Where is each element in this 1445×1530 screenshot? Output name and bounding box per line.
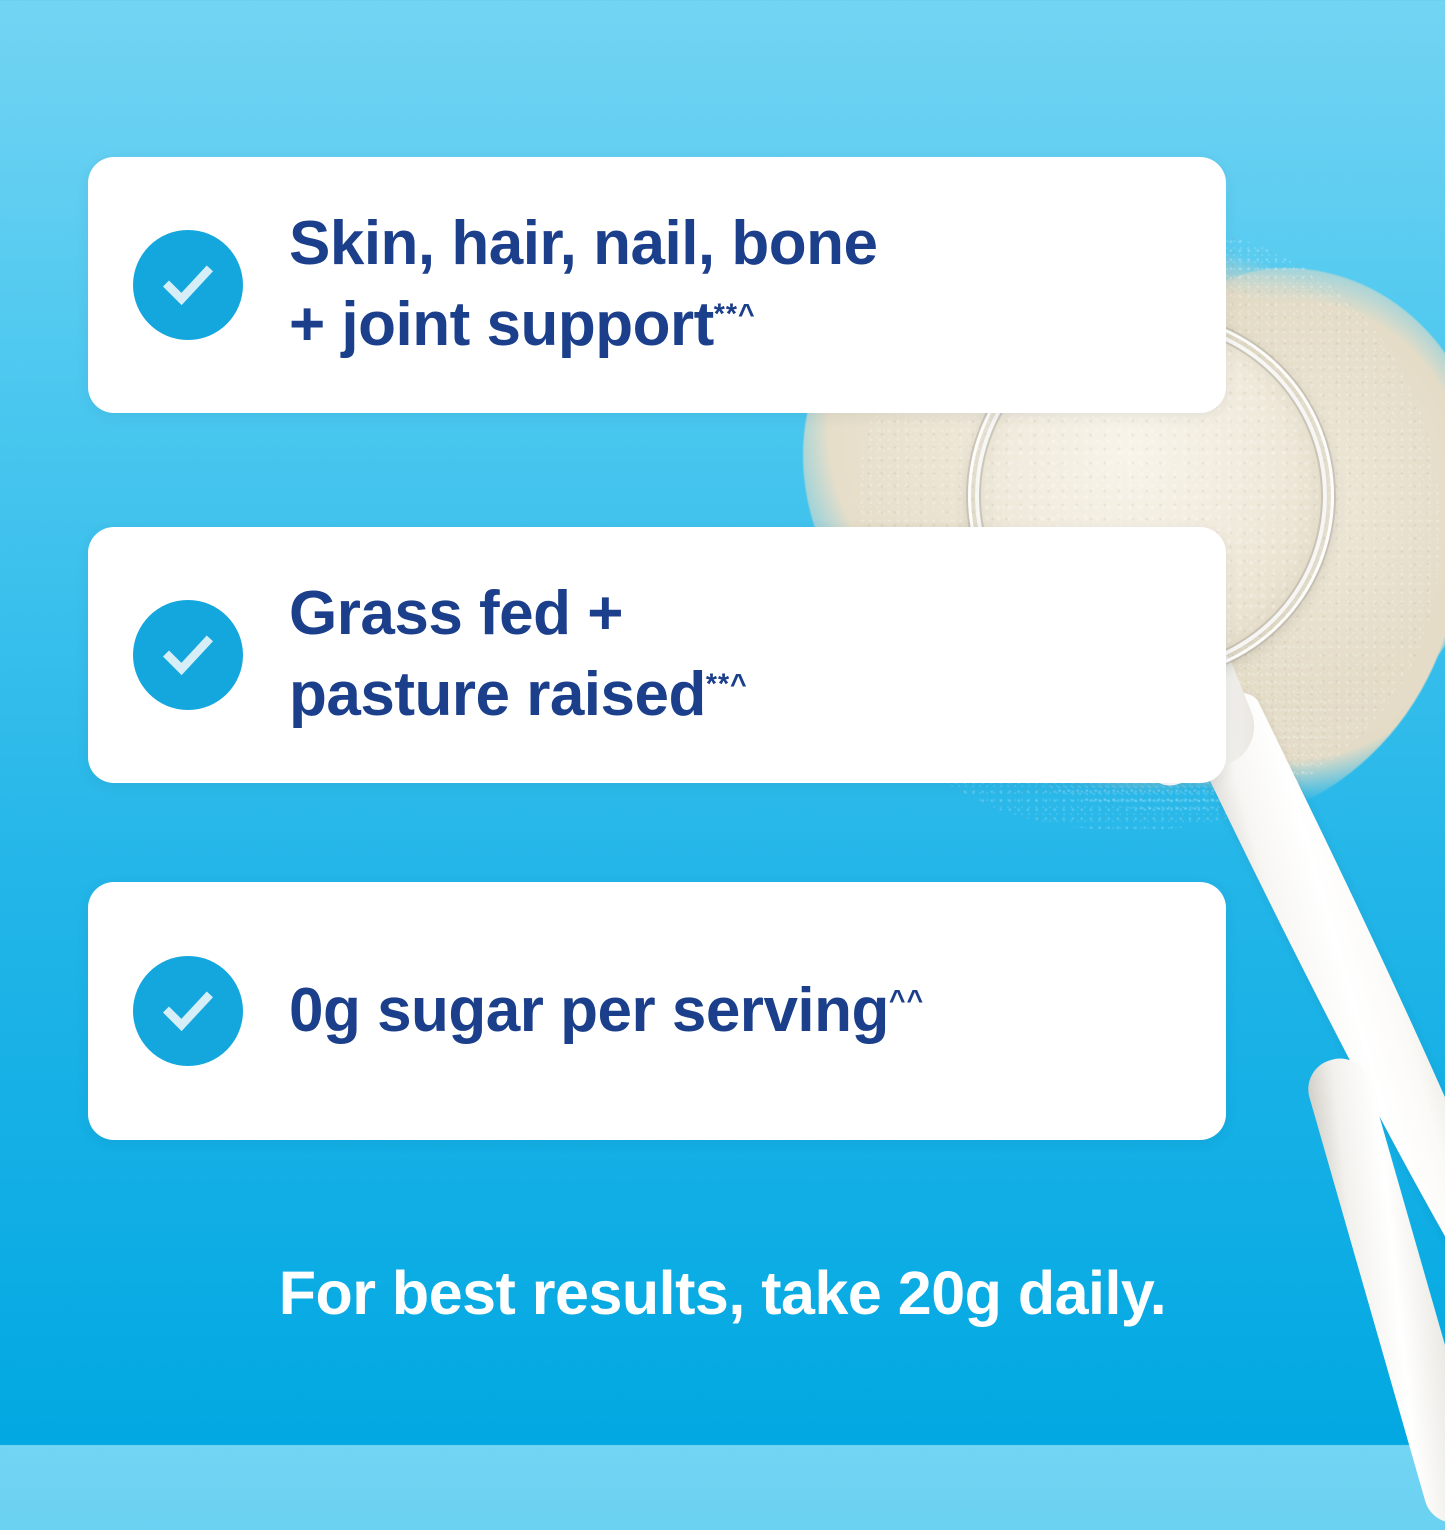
tagline: For best results, take 20g daily. — [0, 1258, 1445, 1328]
product-benefits-graphic: Skin, hair, nail, bone + joint support**… — [0, 0, 1445, 1445]
benefit-card-2-footnote: **^ — [706, 668, 748, 700]
benefit-card-1: Skin, hair, nail, bone + joint support**… — [88, 157, 1226, 413]
benefit-card-1-line1: Skin, hair, nail, bone — [289, 204, 877, 285]
check-circle-icon — [133, 956, 243, 1066]
benefit-card-3: 0g sugar per serving^^ — [88, 882, 1226, 1140]
benefit-card-2-text: Grass fed + pasture raised**^ — [289, 574, 748, 735]
check-circle-icon — [133, 230, 243, 340]
benefit-card-1-line2-wrap: + joint support**^ — [289, 285, 877, 366]
benefit-card-3-line1: 0g sugar per serving — [289, 976, 889, 1045]
benefit-card-2-line2-wrap: pasture raised**^ — [289, 655, 748, 736]
benefit-card-3-line1-wrap: 0g sugar per serving^^ — [289, 971, 924, 1052]
benefit-card-2-line1: Grass fed + — [289, 574, 748, 655]
benefit-card-3-text: 0g sugar per serving^^ — [289, 971, 924, 1052]
benefit-card-2: Grass fed + pasture raised**^ — [88, 527, 1226, 783]
benefit-card-3-footnote: ^^ — [889, 984, 924, 1016]
benefit-card-1-line2: + joint support — [289, 290, 714, 359]
check-circle-icon — [133, 600, 243, 710]
benefit-card-2-line2: pasture raised — [289, 660, 706, 729]
benefit-card-1-footnote: **^ — [714, 298, 756, 330]
benefit-card-1-text: Skin, hair, nail, bone + joint support**… — [289, 204, 877, 365]
